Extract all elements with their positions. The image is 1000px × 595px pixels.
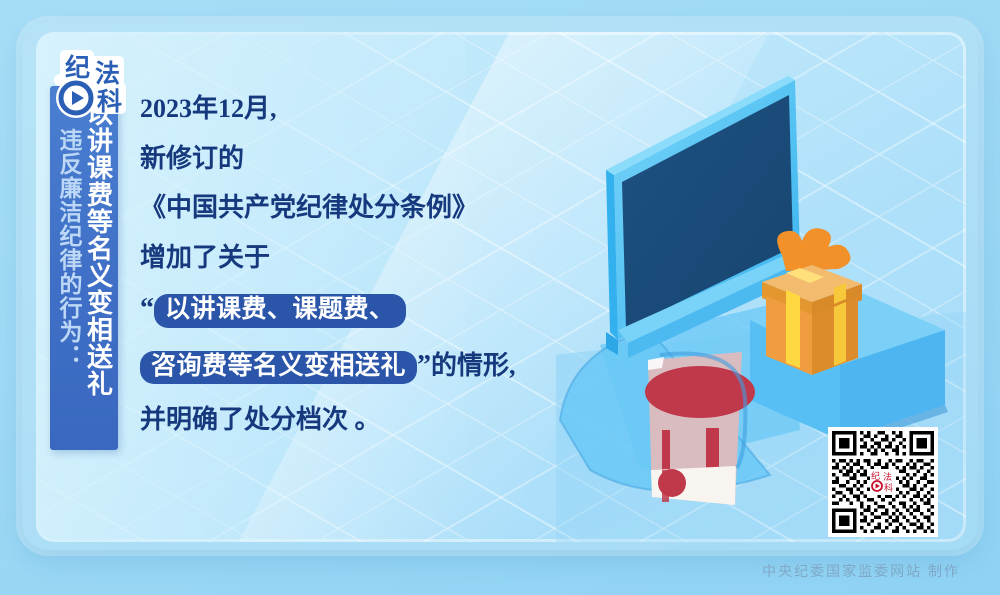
body-line-5: “以讲课费、课题费、 <box>140 294 560 328</box>
title-main-label: 以讲课费等名义变相送礼 <box>85 100 112 412</box>
qr-logo-char-2: 法 <box>883 471 892 482</box>
logo-char-3: 科 <box>97 88 122 116</box>
highlight-phrase-1: 以讲课费、课题费、 <box>154 294 406 328</box>
body-line-6-tail: 的情形, <box>431 351 516 380</box>
logo-char-1: 纪 <box>65 53 90 82</box>
qr-logo-char-1: 纪 <box>871 470 880 481</box>
quote-close-mark: ” <box>417 350 431 381</box>
body-line-1: 2023年12月, <box>140 96 560 123</box>
body-line-6: 咨询费等名义变相送礼”的情形, <box>140 351 560 385</box>
qr-logo-char-3: 科 <box>884 482 893 493</box>
body-line-7: 并明确了处分档次 。 <box>140 407 560 434</box>
qr-center-logo: 纪 法 科 <box>870 469 896 495</box>
quote-open-mark: “ <box>140 293 154 324</box>
body-line-3: 《中国共产党纪律处分条例》 <box>140 195 560 222</box>
title-category-label: 违反廉洁纪律的行为： <box>57 100 80 398</box>
footer-credit: 中央纪委国家监委网站 制作 <box>762 561 960 581</box>
body-line-4: 增加了关于 <box>140 245 560 272</box>
program-logo: 纪 法 科 <box>48 46 148 118</box>
highlight-phrase-2: 咨询费等名义变相送礼 <box>140 351 417 385</box>
infographic-canvas: 纪 法 科 以讲课费等名义变相送礼 违反廉洁纪律的行为： 2023年12月, 新… <box>0 0 1000 595</box>
body-text-block: 2023年12月, 新修订的 《中国共产党纪律处分条例》 增加了关于 “以讲课费… <box>140 96 560 457</box>
logo-char-2: 法 <box>95 60 120 88</box>
vertical-title-badge: 以讲课费等名义变相送礼 违反廉洁纪律的行为： <box>50 86 118 450</box>
body-line-2: 新修订的 <box>140 146 560 173</box>
qr-code[interactable]: 纪 法 科 <box>828 427 938 537</box>
